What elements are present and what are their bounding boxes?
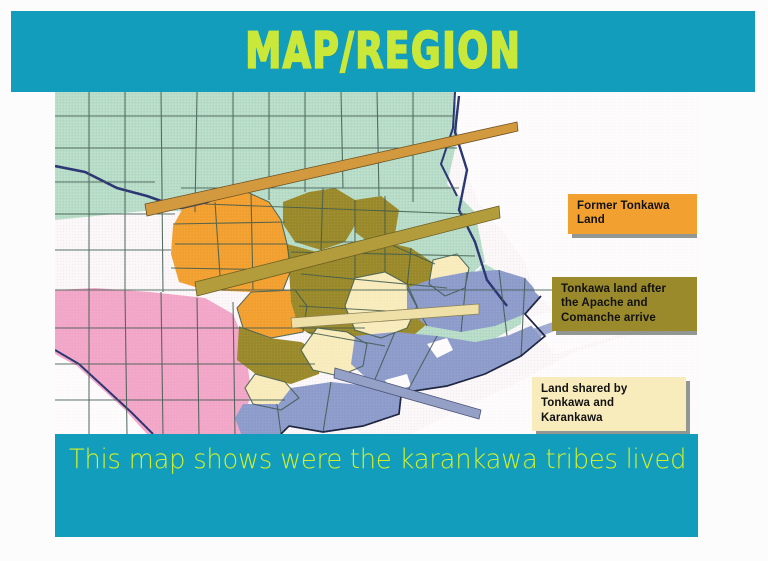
caption-banner: This map shows were the karankawa tribes…	[55, 434, 698, 537]
callout-land-shared[interactable]: Land shared by Tonkawa and Karankawa	[532, 377, 686, 431]
callout-tonkawa-after-apache-comanche[interactable]: Tonkawa land after the Apache and Comanc…	[552, 277, 697, 331]
callout-former-tonkawa-land[interactable]: Former Tonkawa Land	[568, 194, 697, 234]
page-title: MAP/REGION	[242, 27, 525, 76]
map-figure: Former Tonkawa Land Tonkawa land after t…	[55, 92, 697, 434]
title-banner: MAP/REGION	[11, 11, 755, 92]
caption-text: This map shows were the karankawa tribes…	[69, 444, 670, 475]
slide-canvas: MAP/REGION	[0, 0, 768, 561]
